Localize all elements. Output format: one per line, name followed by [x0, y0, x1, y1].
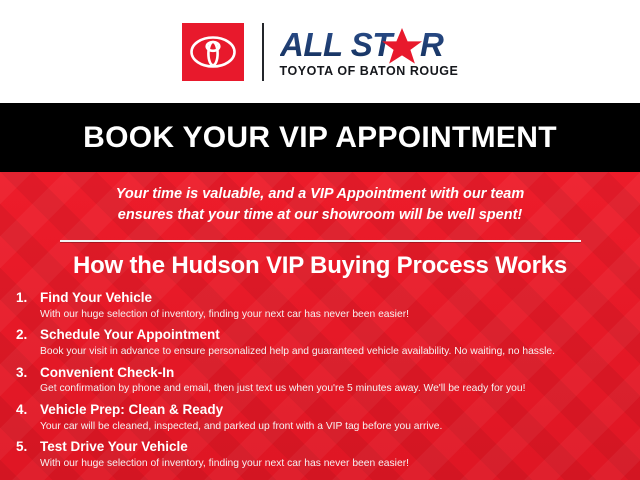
step-number: 2.: [16, 327, 40, 344]
allstar-wordmark-block: ALL ST R TOYOTA OF BATON ROUGE: [280, 22, 459, 82]
tagline: Your time is valuable, and a VIP Appoint…: [0, 172, 640, 226]
dealer-location-subtitle: TOYOTA OF BATON ROUGE: [280, 65, 459, 78]
step-title: Find Your Vehicle: [40, 290, 630, 307]
list-item: 4. Vehicle Prep: Clean & Ready Your car …: [16, 402, 630, 433]
headline-banner: BOOK YOUR VIP APPOINTMENT: [0, 103, 640, 172]
process-steps-list: 1. Find Your Vehicle With our huge selec…: [0, 290, 640, 470]
list-item: 1. Find Your Vehicle With our huge selec…: [16, 290, 630, 321]
logo-divider: [262, 23, 264, 81]
step-description: Your car will be cleaned, inspected, and…: [40, 420, 630, 433]
list-item: 3. Convenient Check-In Get confirmation …: [16, 365, 630, 396]
allstar-wordmark-icon: ALL ST R: [280, 26, 452, 64]
step-title: Convenient Check-In: [40, 365, 630, 382]
toyota-emblem-icon: [182, 23, 244, 81]
tagline-line-1: Your time is valuable, and a VIP Appoint…: [0, 184, 640, 205]
step-description: Get confirmation by phone and email, the…: [40, 382, 630, 395]
svg-text:R: R: [420, 26, 444, 63]
list-item: 2. Schedule Your Appointment Book your v…: [16, 327, 630, 358]
section-divider: [60, 240, 581, 242]
process-heading: How the Hudson VIP Buying Process Works: [0, 252, 640, 280]
step-number: 3.: [16, 365, 40, 382]
svg-text:ALL ST: ALL ST: [280, 26, 395, 63]
step-description: With our huge selection of inventory, fi…: [40, 308, 630, 321]
step-title: Vehicle Prep: Clean & Ready: [40, 402, 630, 419]
step-title: Schedule Your Appointment: [40, 327, 630, 344]
content-panel: Your time is valuable, and a VIP Appoint…: [0, 172, 640, 480]
step-description: Book your visit in advance to ensure per…: [40, 345, 630, 358]
step-description: With our huge selection of inventory, fi…: [40, 457, 630, 470]
step-title: Test Drive Your Vehicle: [40, 439, 630, 456]
tagline-line-2: ensures that your time at our showroom w…: [0, 205, 640, 226]
step-number: 5.: [16, 439, 40, 456]
banner-title: BOOK YOUR VIP APPOINTMENT: [83, 121, 557, 155]
list-item: 5. Test Drive Your Vehicle With our huge…: [16, 439, 630, 470]
step-number: 4.: [16, 402, 40, 419]
logo-header: ALL ST R TOYOTA OF BATON ROUGE: [0, 0, 640, 103]
dealer-logo[interactable]: ALL ST R TOYOTA OF BATON ROUGE: [182, 21, 459, 83]
step-number: 1.: [16, 290, 40, 307]
